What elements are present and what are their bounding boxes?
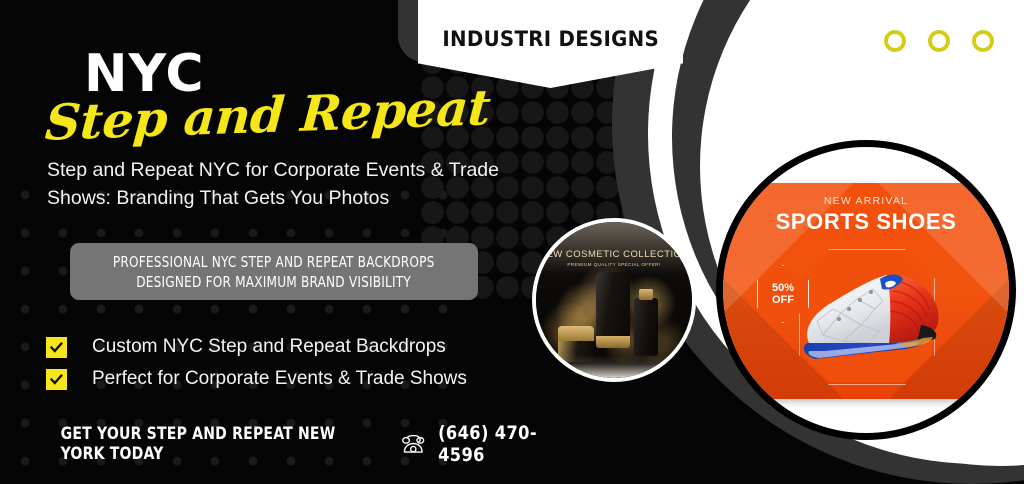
decorative-dot-rings <box>884 30 994 52</box>
shoes-title: SPORTS SHOES <box>723 209 1009 235</box>
cosmetic-product-tube <box>596 272 630 348</box>
highlight-line-1: PROFESSIONAL NYC STEP AND REPEAT BACKDRO… <box>113 252 435 272</box>
discount-off-label: OFF <box>772 294 794 306</box>
discount-percent: 50% <box>772 282 794 294</box>
telephone-icon <box>401 432 426 456</box>
list-item-label: Custom NYC Step and Repeat Backdrops <box>92 336 446 358</box>
highlight-box: PROFESSIONAL NYC STEP AND REPEAT BACKDRO… <box>70 243 478 300</box>
check-icon <box>46 369 67 390</box>
cta-phone-number: (646) 470-4596 <box>438 422 557 466</box>
hero-content: NYC Step and Repeat Step and Repeat NYC … <box>0 0 560 484</box>
sports-shoes-card: NEW ARRIVAL SPORTS SHOES <box>723 183 1009 399</box>
check-icon <box>46 337 67 358</box>
circle-ring-icon <box>884 30 906 52</box>
circle-ring-icon <box>928 30 950 52</box>
shoes-eyebrow-label: NEW ARRIVAL <box>723 195 1009 207</box>
promotional-banner: NEW COSMETIC COLLECTION PREMIUM QUALITY … <box>0 0 1024 484</box>
list-item: Custom NYC Step and Repeat Backdrops <box>46 336 467 358</box>
circle-ring-icon <box>972 30 994 52</box>
cosmetic-product-bottle <box>634 298 658 356</box>
list-item-label: Perfect for Corporate Events & Trade Sho… <box>92 368 467 390</box>
call-to-action: GET YOUR STEP AND REPEAT NEW YORK TODAY … <box>47 422 560 466</box>
hero-subtitle: Step and Repeat NYC for Corporate Events… <box>47 156 547 212</box>
cta-label: GET YOUR STEP AND REPEAT NEW YORK TODAY <box>61 424 374 464</box>
list-item: Perfect for Corporate Events & Trade Sho… <box>46 368 467 390</box>
sports-shoes-thumbnail: NEW ARRIVAL SPORTS SHOES <box>716 140 1016 440</box>
feature-list: Custom NYC Step and Repeat Backdrops Per… <box>46 336 467 400</box>
sneaker-illustration <box>785 247 965 375</box>
highlight-line-2: DESIGNED FOR MAXIMUM BRAND VISIBILITY <box>137 272 412 292</box>
